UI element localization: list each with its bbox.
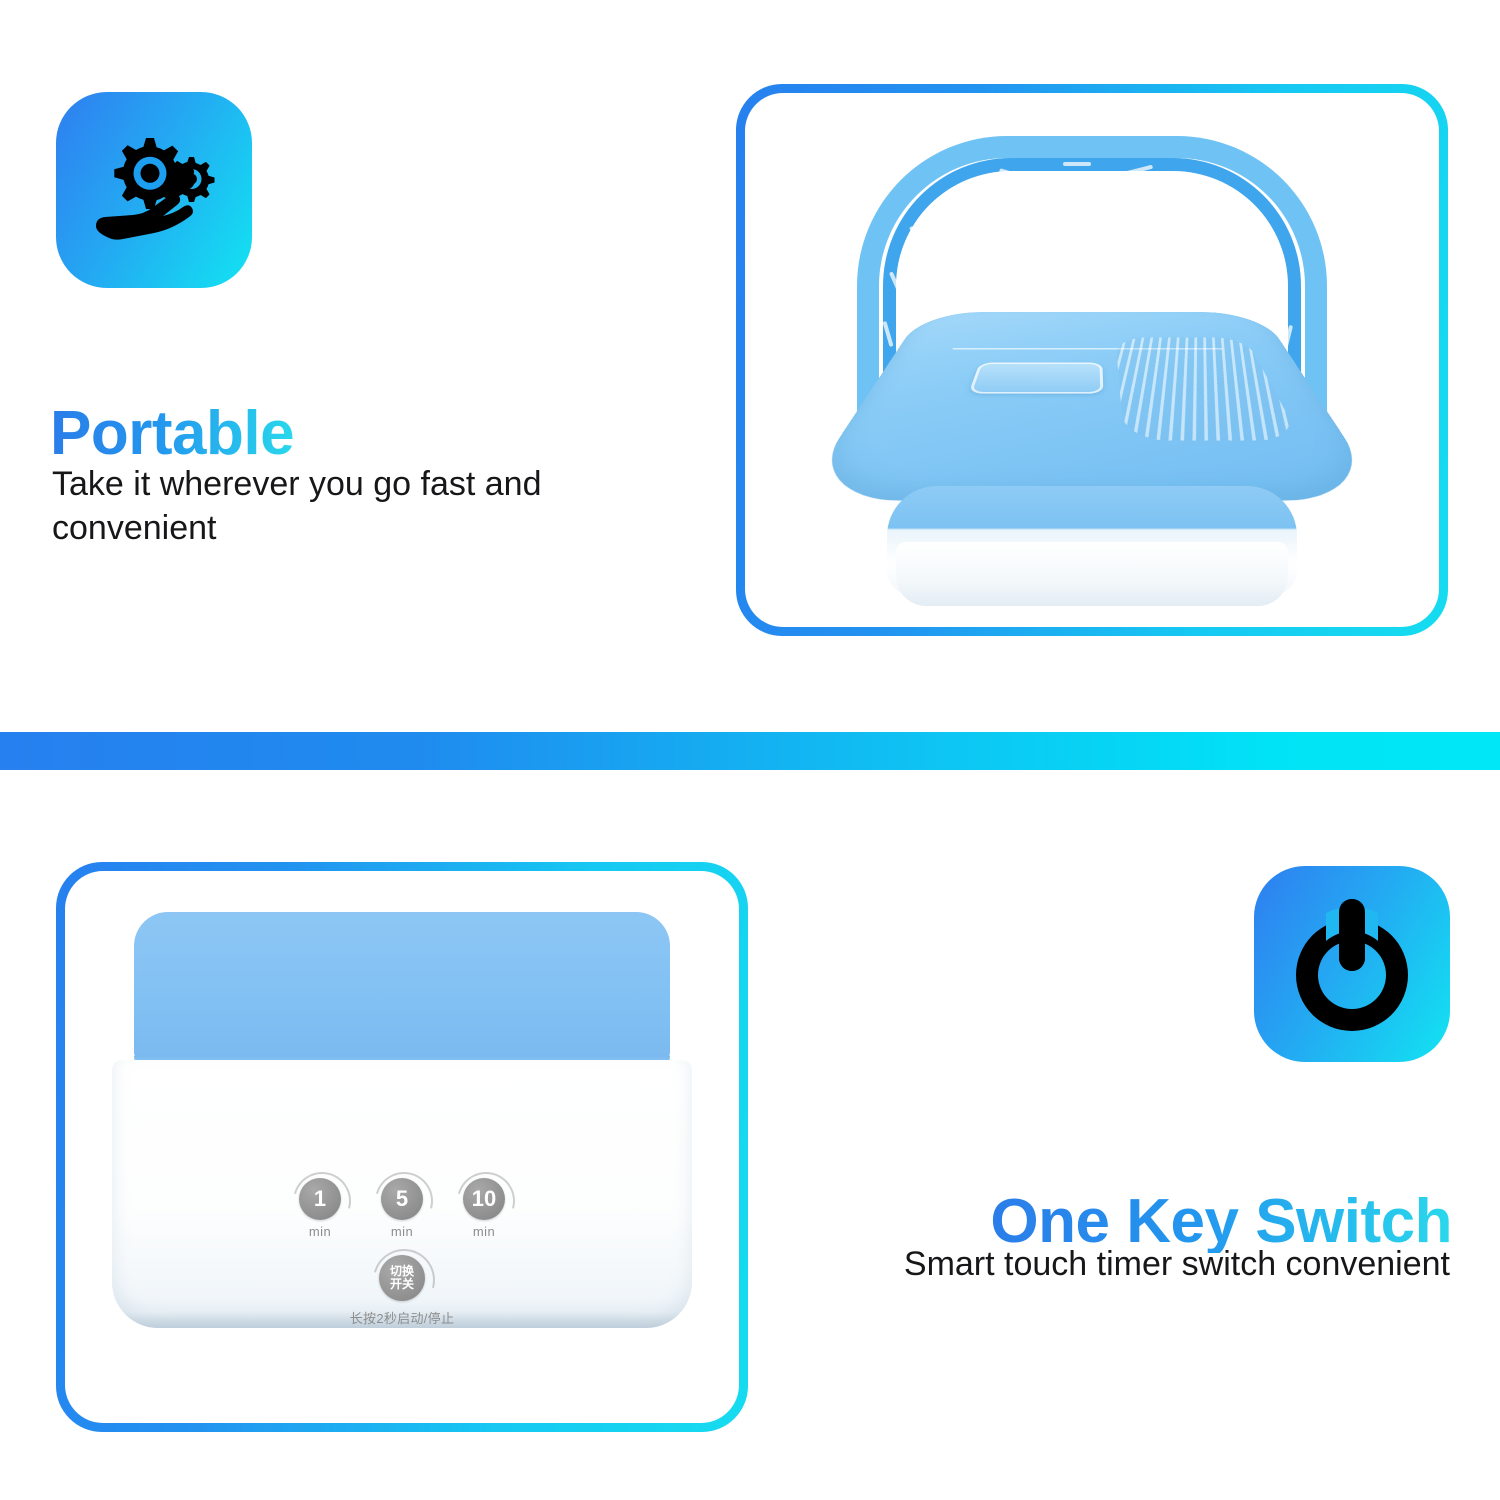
- timer-button-row: 1 min 5 min 10 min: [267, 1178, 537, 1239]
- feature-title-portable: Portable: [50, 403, 294, 465]
- mode-switch-label-line1: 切换: [390, 1265, 414, 1278]
- timer-button-10min[interactable]: 10 min: [456, 1178, 512, 1239]
- feature-badge-portable: [56, 92, 252, 288]
- timer-value-5: 5: [381, 1178, 423, 1220]
- feature-description-one-key-switch: Smart touch timer switch convenient: [890, 1242, 1450, 1286]
- mode-switch-button[interactable]: 切换 开关: [379, 1255, 425, 1301]
- handle-segment: [1063, 162, 1091, 166]
- timer-value-10: 10: [463, 1178, 505, 1220]
- infographic-page: Portable Take it wherever you go fast an…: [0, 0, 1500, 1500]
- timer-value-1: 1: [299, 1178, 341, 1220]
- product-washer-with-handle: [812, 136, 1372, 606]
- power-switch-area: 切换 开关 长按2秒启动/停止: [267, 1255, 537, 1327]
- photo-frame-washer-control: 1 min 5 min 10 min: [56, 862, 748, 1432]
- feature-badge-one-key-switch: [1254, 866, 1450, 1062]
- photo-frame-washer-handle: [736, 84, 1448, 636]
- power-button-icon: [1254, 866, 1450, 1062]
- washer-handle-photo: [745, 93, 1439, 627]
- timer-button-1min[interactable]: 1 min: [292, 1178, 348, 1239]
- mode-switch-label-line2: 开关: [390, 1278, 414, 1291]
- washer-lid-blue: [134, 912, 670, 1064]
- lid-vent-ridges: [1115, 337, 1301, 440]
- touch-control-panel: 1 min 5 min 10 min: [267, 1178, 537, 1327]
- washer-body-white: [896, 542, 1288, 606]
- washer-control-photo: 1 min 5 min 10 min: [65, 871, 739, 1423]
- timer-button-5min[interactable]: 5 min: [374, 1178, 430, 1239]
- section-divider-bar: [0, 732, 1500, 770]
- gear-in-hand-icon: [56, 92, 252, 288]
- feature-description-portable: Take it wherever you go fast and conveni…: [52, 462, 572, 550]
- washer-body-white: 1 min 5 min 10 min: [112, 1060, 692, 1328]
- product-washer-front: 1 min 5 min 10 min: [112, 912, 692, 1382]
- lid-latch: [968, 362, 1103, 393]
